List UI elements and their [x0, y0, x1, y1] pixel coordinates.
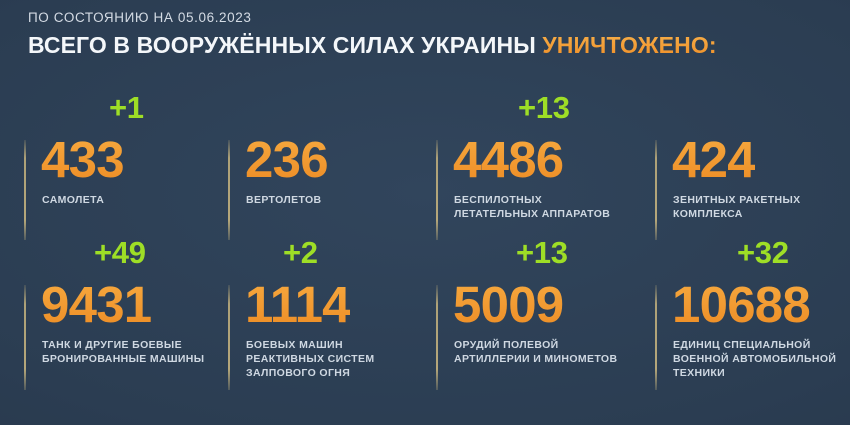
card-divider-icon — [24, 140, 26, 240]
card-divider-icon — [228, 140, 230, 240]
card-divider-icon — [436, 285, 438, 390]
page-title-highlight: УНИЧТОЖЕНО: — [542, 32, 716, 58]
card-divider-icon — [228, 285, 230, 390]
stat-card-field-artillery: +13 5009 ОРУДИЙ ПОЛЕВОЙ АРТИЛЛЕРИИ И МИН… — [436, 237, 651, 387]
card-divider-icon — [655, 140, 657, 240]
delta-badge: +2 — [283, 237, 318, 268]
stat-value: 4486 — [453, 134, 563, 185]
status-date-line: ПО СОСТОЯНИЮ НА 05.06.2023 — [28, 10, 717, 25]
stat-label: ЕДИНИЦ СПЕЦИАЛЬНОЙ ВОЕННОЙ АВТОМОБИЛЬНОЙ… — [673, 339, 836, 381]
stat-card-sam-systems: 424 ЗЕНИТНЫХ РАКЕТНЫХ КОМПЛЕКСА — [655, 92, 850, 237]
stat-value: 10688 — [672, 279, 810, 330]
delta-badge: +32 — [737, 237, 789, 268]
infographic-board: ПО СОСТОЯНИЮ НА 05.06.2023 ВСЕГО В ВООРУ… — [0, 0, 850, 425]
stat-label: ЗЕНИТНЫХ РАКЕТНЫХ КОМПЛЕКСА — [673, 194, 801, 222]
card-divider-icon — [24, 285, 26, 390]
delta-badge: +13 — [516, 237, 568, 268]
stat-value: 5009 — [453, 279, 563, 330]
stat-value: 424 — [672, 134, 755, 185]
page-title-primary: ВСЕГО В ВООРУЖЁННЫХ СИЛАХ УКРАИНЫ — [28, 32, 536, 58]
stat-label: ТАНК И ДРУГИЕ БОЕВЫЕ БРОНИРОВАННЫЕ МАШИН… — [42, 339, 204, 367]
page-title: ВСЕГО В ВООРУЖЁННЫХ СИЛАХ УКРАИНЫ УНИЧТО… — [28, 33, 717, 57]
stats-row-1: +1 433 САМОЛЕТА 236 ВЕРТОЛЕТОВ +13 4486 … — [0, 92, 850, 237]
stat-card-aircraft: +1 433 САМОЛЕТА — [24, 92, 224, 237]
delta-badge: +1 — [109, 92, 144, 123]
delta-badge: +49 — [94, 237, 146, 268]
stats-row-2: +49 9431 ТАНК И ДРУГИЕ БОЕВЫЕ БРОНИРОВАН… — [0, 237, 850, 387]
stat-label: ОРУДИЙ ПОЛЕВОЙ АРТИЛЛЕРИИ И МИНОМЕТОВ — [454, 339, 617, 367]
delta-badge: +13 — [518, 92, 570, 123]
stat-label: БЕСПИЛОТНЫХ ЛЕТАТЕЛЬНЫХ АППАРАТОВ — [454, 194, 610, 222]
stat-label: БОЕВЫХ МАШИН РЕАКТИВНЫХ СИСТЕМ ЗАЛПОВОГО… — [246, 339, 374, 381]
header: ПО СОСТОЯНИЮ НА 05.06.2023 ВСЕГО В ВООРУ… — [28, 10, 717, 57]
stat-card-mlrs: +2 1114 БОЕВЫХ МАШИН РЕАКТИВНЫХ СИСТЕМ З… — [228, 237, 432, 387]
card-divider-icon — [436, 140, 438, 240]
stat-card-military-vehicles: +32 10688 ЕДИНИЦ СПЕЦИАЛЬНОЙ ВОЕННОЙ АВТ… — [655, 237, 850, 387]
stat-label: ВЕРТОЛЕТОВ — [246, 194, 321, 208]
stat-value: 433 — [41, 134, 124, 185]
stat-card-tanks-afv: +49 9431 ТАНК И ДРУГИЕ БОЕВЫЕ БРОНИРОВАН… — [24, 237, 224, 387]
card-divider-icon — [655, 285, 657, 390]
stat-value: 236 — [245, 134, 328, 185]
stat-value: 1114 — [245, 279, 350, 330]
stat-label: САМОЛЕТА — [42, 194, 104, 208]
stat-value: 9431 — [41, 279, 151, 330]
stat-card-helicopters: 236 ВЕРТОЛЕТОВ — [228, 92, 432, 237]
stat-card-uav: +13 4486 БЕСПИЛОТНЫХ ЛЕТАТЕЛЬНЫХ АППАРАТ… — [436, 92, 651, 237]
